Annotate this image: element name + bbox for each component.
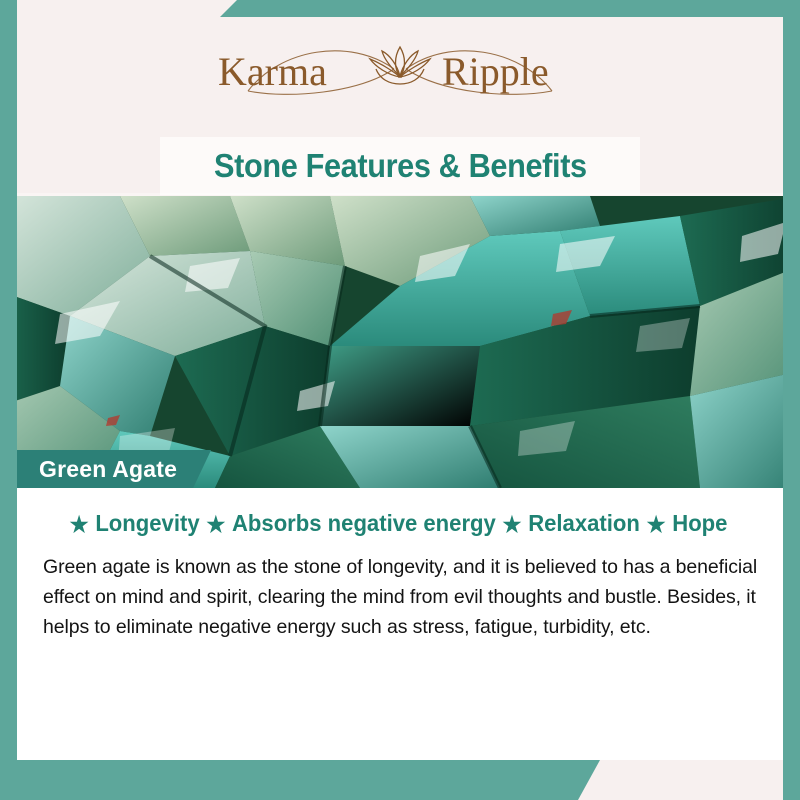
star-icon: ★ [68, 512, 91, 538]
stone-name-banner: Green Agate [17, 450, 211, 488]
benefit-item: Hope [667, 510, 732, 537]
page-title: Stone Features & Benefits [214, 147, 587, 185]
star-icon: ★ [501, 512, 524, 538]
frame-accent-top [220, 0, 800, 17]
frame-corner-bottom-right [570, 760, 800, 800]
stone-description: Green agate is known as the stone of lon… [43, 552, 761, 642]
product-info-poster: Karma Ripple Stone Features & Benefits [0, 0, 800, 800]
brand-logo-artwork: Karma Ripple [190, 29, 610, 107]
frame-accent-bottom [0, 760, 600, 800]
page-title-panel: Stone Features & Benefits [160, 137, 640, 195]
benefit-item: Relaxation [523, 510, 644, 537]
stone-photo [0, 196, 800, 488]
brand-name-right: Ripple [442, 49, 549, 94]
content-section: ★Longevity★Absorbs negative energy★Relax… [17, 488, 783, 760]
header-section: Karma Ripple Stone Features & Benefits [0, 0, 800, 196]
star-icon: ★ [645, 512, 668, 538]
lotus-icon [370, 47, 430, 84]
frame-accent-right [783, 0, 800, 800]
benefits-list: ★Longevity★Absorbs negative energy★Relax… [32, 510, 767, 538]
star-icon: ★ [204, 512, 227, 538]
stone-photo-artwork [0, 196, 800, 488]
benefit-item: Absorbs negative energy [227, 510, 500, 537]
photo-top-seam [17, 193, 783, 196]
benefit-item: Longevity [91, 510, 205, 537]
brand-logo: Karma Ripple [0, 28, 800, 108]
brand-name-left: Karma [218, 49, 327, 94]
frame-accent-left [0, 0, 17, 800]
stone-name: Green Agate [39, 456, 177, 483]
